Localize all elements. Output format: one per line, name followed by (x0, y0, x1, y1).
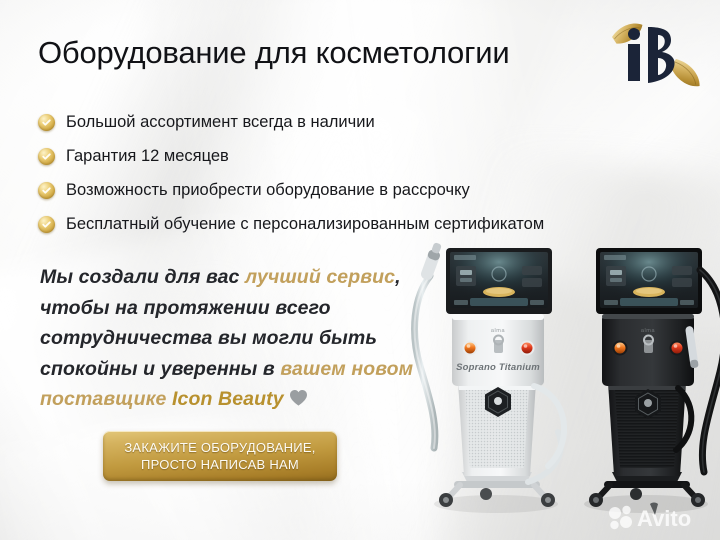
white-device-label: Soprano Titanium (456, 362, 540, 373)
cta-line-1: ЗАКАЖИТЕ ОБОРУДОВАНИЕ, (124, 439, 315, 456)
page-title: Оборудование для косметологии (38, 34, 509, 72)
feature-list: Большой ассортимент всегда в наличии Гар… (38, 106, 698, 240)
list-item: Гарантия 12 месяцев (38, 140, 698, 172)
promo-text-part1: Мы создали для вас (40, 266, 245, 288)
check-circle-icon (38, 148, 55, 165)
black-device: alma (584, 248, 720, 513)
avito-wordmark: Avito (637, 506, 691, 531)
check-circle-icon (38, 182, 55, 199)
list-item-label: Бесплатный обучение с персонализированны… (66, 214, 544, 234)
promo-paragraph: Мы создали для вас лучший сервис, чтобы … (40, 262, 440, 415)
check-circle-icon (38, 216, 55, 233)
order-equipment-button[interactable]: ЗАКАЖИТЕ ОБОРУДОВАНИЕ, ПРОСТО НАПИСАВ НА… (103, 431, 337, 481)
list-item-label: Большой ассортимент всегда в наличии (66, 112, 375, 132)
list-item: Возможность приобрести оборудование в ра… (38, 174, 698, 206)
equipment-photo: alma Soprano Titanium (408, 236, 720, 526)
svg-text:alma: alma (491, 328, 506, 334)
check-circle-icon (38, 114, 55, 131)
advertisement-banner: alma Soprano Titanium (0, 0, 720, 540)
avito-watermark: Avito (606, 502, 710, 532)
cta-line-2: ПРОСТО НАПИСАВ НАМ (141, 456, 299, 473)
list-item-label: Возможность приобрести оборудование в ра… (66, 180, 470, 200)
list-item-label: Гарантия 12 месяцев (66, 146, 229, 166)
list-item: Большой ассортимент всегда в наличии (38, 106, 698, 138)
list-item: Бесплатный обучение с персонализированны… (38, 208, 698, 240)
promo-highlight-service: лучший сервис (245, 266, 395, 288)
brand-name: Icon Beauty (172, 388, 284, 410)
grey-heart-icon (289, 389, 308, 407)
icon-beauty-logo (598, 19, 710, 91)
black-device-label: alma (641, 328, 656, 334)
